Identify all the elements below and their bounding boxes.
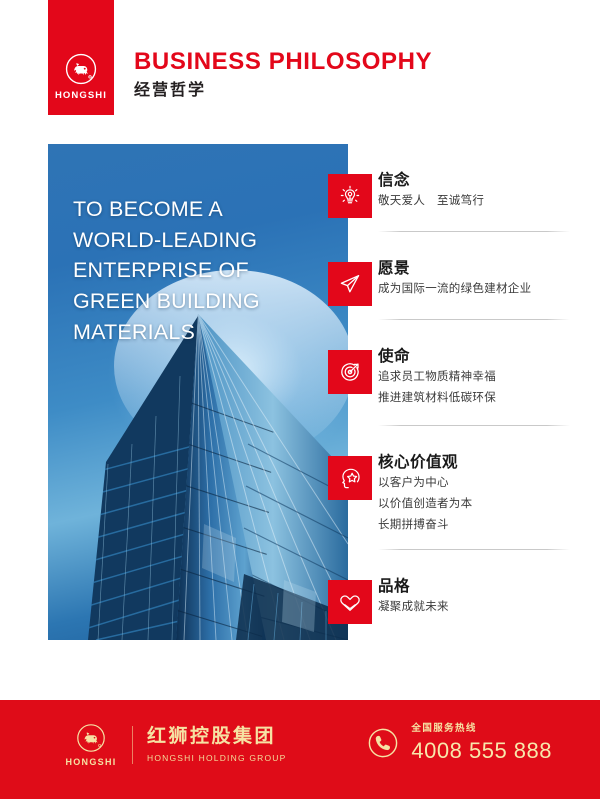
head-star-icon: [328, 456, 372, 500]
hongshi-lion-circle-icon: [75, 722, 107, 754]
footer-company-en: HONGSHI HOLDING GROUP: [147, 754, 287, 763]
hero-headline-line: TO BECOME A: [73, 194, 335, 225]
value-text-group: 品格 凝聚成就未来: [378, 578, 580, 617]
value-line: 以客户为中心: [378, 474, 580, 493]
footer-brand: HONGSHI 红狮控股集团 HONGSHI HOLDING GROUP: [58, 722, 287, 767]
paper-plane-icon: [328, 262, 372, 306]
hongshi-lion-circle-icon: R: [64, 52, 98, 86]
value-divider: [378, 319, 570, 320]
value-line: 追求员工物质精神幸福: [378, 368, 580, 387]
page-title-en: BUSINESS PHILOSOPHY: [134, 50, 432, 74]
footer-hotline-label: 全国服务热线: [411, 724, 552, 734]
hero-headline-line: GREEN BUILDING: [73, 286, 335, 317]
value-line: 长期拼搏奋斗: [378, 516, 580, 535]
value-divider: [378, 425, 570, 426]
header-logo-wordmark: HONGSHI: [55, 90, 107, 101]
footer-hotline-number: 4008 555 888: [411, 740, 552, 762]
values-list: 信念 敬天爱人 至诚笃行 愿景 成为国际一流的绿色建材企业: [328, 144, 580, 640]
footer-company-cn: 红狮控股集团: [147, 727, 287, 748]
header-logo-block: R HONGSHI: [48, 0, 114, 115]
page-title-cn: 经营哲学: [134, 83, 432, 99]
hero-headline-line: ENTERPRISE OF: [73, 255, 335, 286]
value-title: 信念: [378, 172, 580, 190]
value-line: 敬天爱人 至诚笃行: [378, 192, 580, 211]
footer-logo: HONGSHI: [58, 722, 124, 767]
value-title: 品格: [378, 578, 580, 596]
heart-icon: [328, 580, 372, 624]
hero-headline: TO BECOME A WORLD-LEADING ENTERPRISE OF …: [73, 194, 335, 348]
value-text-group: 使命 追求员工物质精神幸福 推进建筑材料低碳环保: [378, 348, 580, 408]
lightbulb-icon: [328, 174, 372, 218]
footer-company-names: 红狮控股集团 HONGSHI HOLDING GROUP: [147, 727, 287, 762]
header-title-group: BUSINESS PHILOSOPHY 经营哲学: [134, 50, 432, 99]
value-text-group: 愿景 成为国际一流的绿色建材企业: [378, 260, 580, 299]
hero-headline-line: MATERIALS: [73, 317, 335, 348]
value-divider: [378, 231, 570, 232]
page-footer: HONGSHI 红狮控股集团 HONGSHI HOLDING GROUP 全国服…: [0, 700, 600, 799]
value-title: 愿景: [378, 260, 580, 278]
poster-page: R HONGSHI BUSINESS PHILOSOPHY 经营哲学: [0, 0, 600, 799]
footer-logo-wordmark: HONGSHI: [65, 757, 116, 767]
value-line: 推进建筑材料低碳环保: [378, 389, 580, 408]
value-title: 使命: [378, 348, 580, 366]
value-title: 核心价值观: [378, 454, 580, 472]
value-line: 以价值创造者为本: [378, 495, 580, 514]
hero-headline-line: WORLD-LEADING: [73, 225, 335, 256]
footer-logo-divider: [132, 726, 133, 764]
value-text-group: 核心价值观 以客户为中心 以价值创造者为本 长期拼搏奋斗: [378, 454, 580, 534]
hero-image: TO BECOME A WORLD-LEADING ENTERPRISE OF …: [48, 144, 348, 640]
value-line: 凝聚成就未来: [378, 598, 580, 617]
phone-icon: [366, 726, 400, 760]
page-header: R HONGSHI BUSINESS PHILOSOPHY 经营哲学: [0, 0, 600, 130]
target-arrow-icon: [328, 350, 372, 394]
value-line: 成为国际一流的绿色建材企业: [378, 280, 580, 299]
value-divider: [378, 549, 570, 550]
footer-hotline-text: 全国服务热线 4008 555 888: [411, 724, 552, 762]
value-text-group: 信念 敬天爱人 至诚笃行: [378, 172, 580, 211]
footer-hotline[interactable]: 全国服务热线 4008 555 888: [366, 724, 552, 762]
